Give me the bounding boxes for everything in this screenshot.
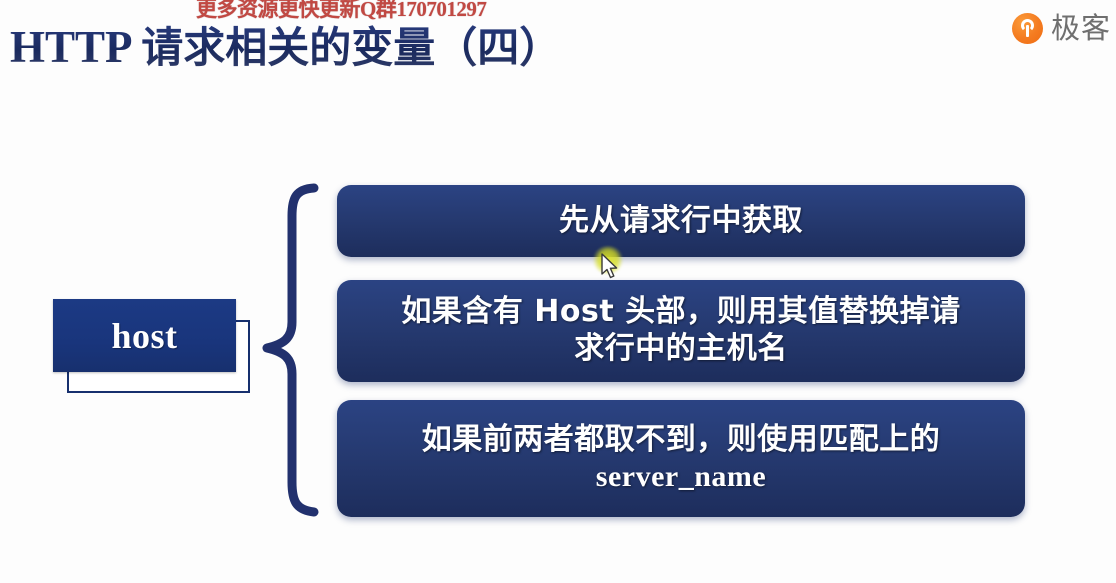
branch-box-1: 先从请求行中获取 bbox=[337, 185, 1025, 257]
branch-box-3: 如果前两者都取不到，则使用匹配上的server_name bbox=[337, 400, 1025, 517]
brand-logo: 极客 bbox=[1012, 10, 1111, 46]
host-node-box: host bbox=[53, 299, 236, 372]
branch-box-2-line-1: 如果含有 Host 头部，则用其值替换掉请 bbox=[401, 294, 960, 329]
page-title-chinese: 请求相关的变量（四） bbox=[141, 23, 561, 72]
host-node: host bbox=[53, 299, 253, 395]
curly-brace-icon bbox=[262, 182, 320, 518]
branch-box-2-text: 如果含有 Host 头部，则用其值替换掉请求行中的主机名 bbox=[401, 294, 960, 367]
branch-box-2-line-2: 求行中的主机名 bbox=[574, 331, 788, 366]
page-title-latin: HTTP bbox=[10, 22, 130, 72]
branch-box-1-text: 先从请求行中获取 bbox=[559, 203, 803, 240]
geekbang-circle-icon bbox=[1012, 13, 1043, 44]
host-node-label: host bbox=[111, 315, 177, 357]
branch-box-3-line-2: server_name bbox=[596, 460, 766, 493]
page-title: HTTP 请求相关的变量（四） bbox=[10, 18, 561, 76]
branch-box-2: 如果含有 Host 头部，则用其值替换掉请求行中的主机名 bbox=[337, 280, 1025, 382]
branch-box-3-text: 如果前两者都取不到，则使用匹配上的server_name bbox=[422, 422, 941, 495]
brand-logo-text: 极客 bbox=[1051, 11, 1111, 45]
slide-canvas: 更多资源更快更新Q群170701297 HTTP 请求相关的变量（四） 极客 h… bbox=[0, 0, 1116, 583]
branch-box-3-line-1: 如果前两者都取不到，则使用匹配上的 bbox=[422, 422, 941, 457]
